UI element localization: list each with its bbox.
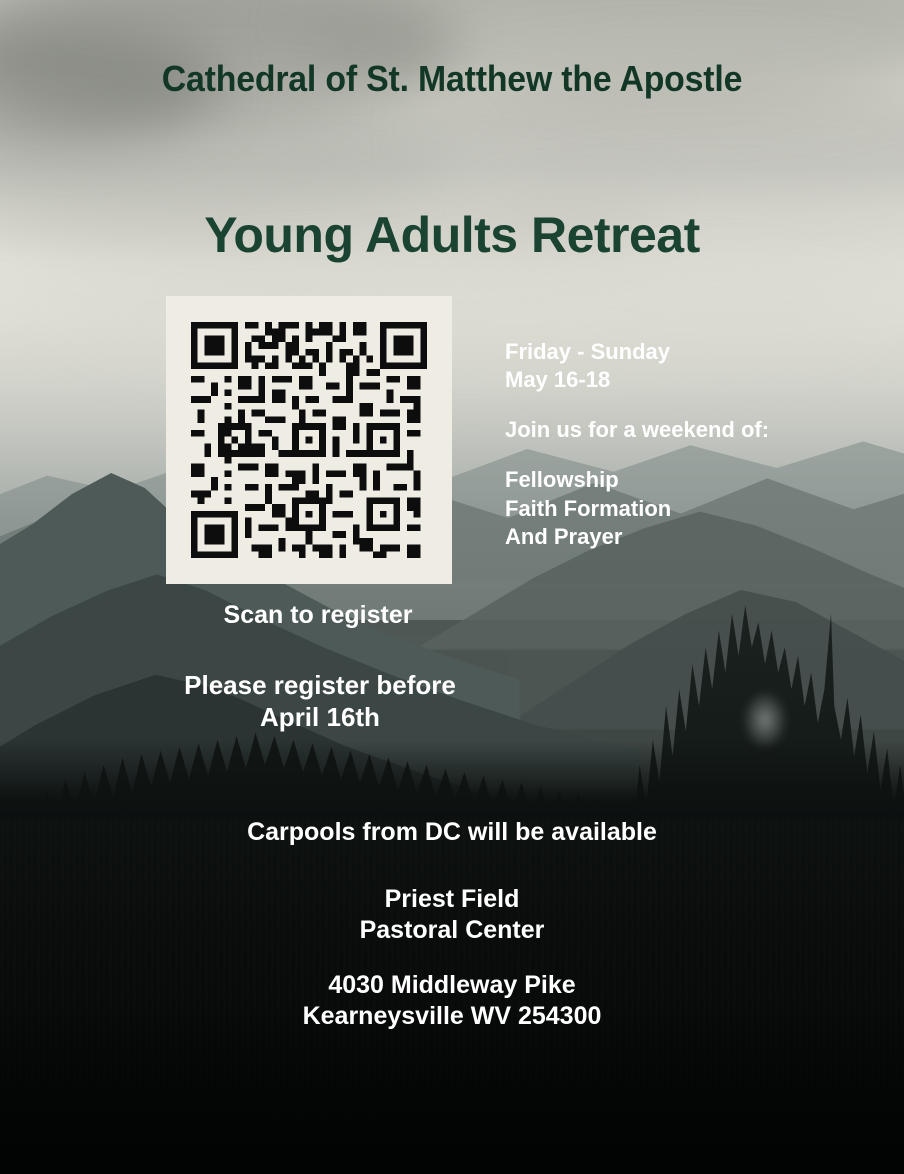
qr-code-panel[interactable]: [166, 296, 452, 584]
activity-item: Fellowship: [505, 466, 865, 494]
activity-item: Faith Formation: [505, 495, 865, 523]
venue-address: 4030 Middleway Pike Kearneysville WV 254…: [0, 970, 904, 1031]
activity-item: And Prayer: [505, 523, 865, 551]
carpool-note: Carpools from DC will be available: [0, 818, 904, 847]
invite-text: Join us for a weekend of:: [505, 416, 865, 444]
address-line-2: Kearneysville WV 254300: [0, 1001, 904, 1032]
spacer: [505, 394, 865, 416]
poster-content: Cathedral of St. Matthew the Apostle You…: [0, 0, 904, 1174]
deadline-line-1: Please register before: [140, 670, 500, 702]
qr-code-icon[interactable]: [184, 315, 434, 565]
qr-caption: Scan to register: [166, 601, 470, 630]
address-line-1: 4030 Middleway Pike: [0, 970, 904, 1001]
dates-line-1: Friday - Sunday: [505, 338, 865, 366]
retreat-poster: Cathedral of St. Matthew the Apostle You…: [0, 0, 904, 1174]
deadline-line-2: April 16th: [140, 702, 500, 734]
dates-line-2: May 16-18: [505, 366, 865, 394]
event-details: Friday - Sunday May 16-18 Join us for a …: [505, 338, 865, 551]
venue-name: Priest Field Pastoral Center: [0, 884, 904, 945]
spacer: [505, 444, 865, 466]
venue-line-1: Priest Field: [0, 884, 904, 915]
event-title: Young Adults Retreat: [0, 206, 904, 264]
registration-deadline: Please register before April 16th: [140, 670, 500, 733]
venue-line-2: Pastoral Center: [0, 915, 904, 946]
organization-title: Cathedral of St. Matthew the Apostle: [27, 58, 877, 100]
